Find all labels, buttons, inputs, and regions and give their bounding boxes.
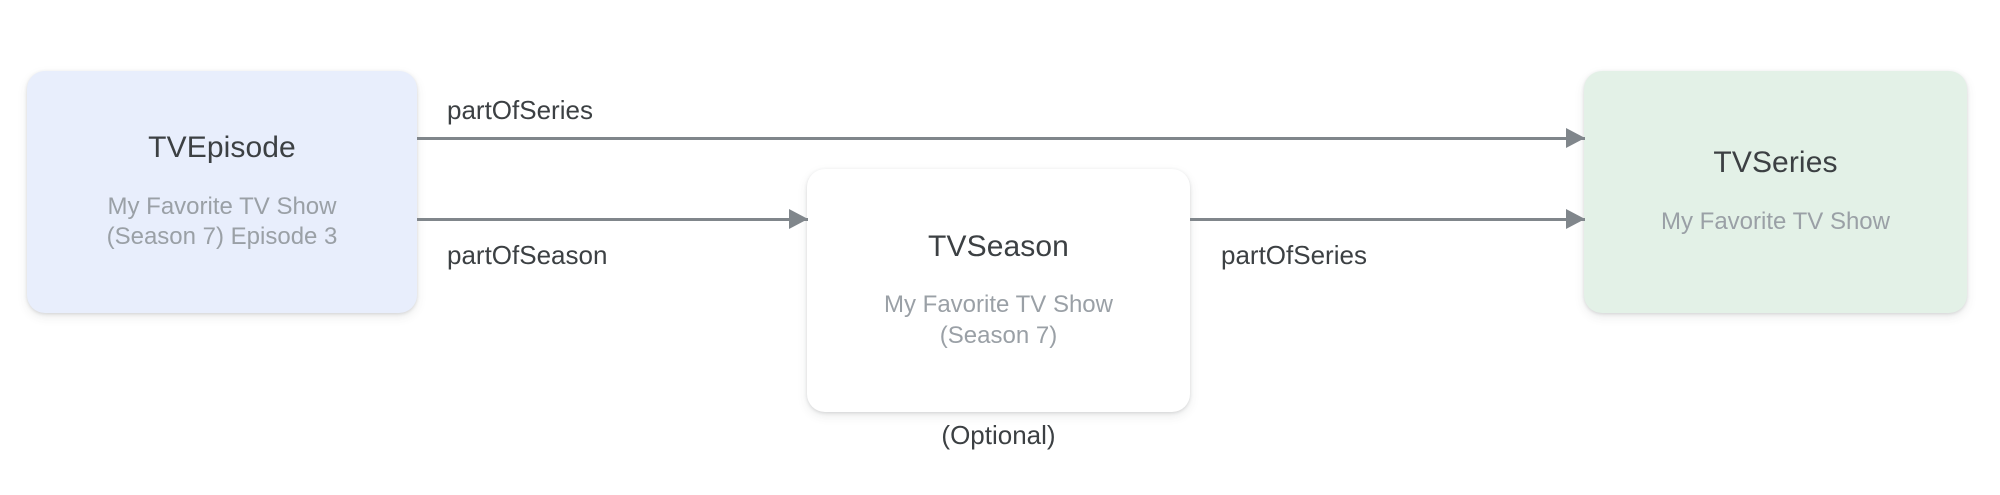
node-tvseason-title: TVSeason — [928, 230, 1069, 265]
node-tvseason-subtitle: My Favorite TV Show (Season 7) — [884, 290, 1113, 351]
edge-season-to-series-line — [1190, 218, 1585, 221]
caption-season-optional: (Optional) — [807, 422, 1190, 448]
node-tvseason[interactable]: TVSeason My Favorite TV Show (Season 7) — [807, 169, 1190, 412]
arrowhead-right-icon — [1566, 128, 1585, 148]
node-tvepisode[interactable]: TVEpisode My Favorite TV Show (Season 7)… — [27, 71, 417, 313]
edge-episode-to-season-line — [417, 218, 808, 221]
node-tvseries-subtitle: My Favorite TV Show — [1661, 207, 1890, 238]
arrowhead-right-icon — [1566, 209, 1585, 229]
edge-episode-to-series-line — [417, 137, 1585, 140]
edge-label-part-of-series-bottom: partOfSeries — [1221, 242, 1367, 268]
node-tvseries[interactable]: TVSeries My Favorite TV Show — [1584, 71, 1967, 313]
node-tvseries-title: TVSeries — [1713, 146, 1837, 181]
arrowhead-right-icon — [789, 209, 808, 229]
node-tvepisode-subtitle: My Favorite TV Show (Season 7) Episode 3 — [107, 192, 338, 253]
edge-label-part-of-series-top: partOfSeries — [447, 97, 593, 123]
node-tvepisode-title: TVEpisode — [148, 131, 296, 166]
edge-label-part-of-season: partOfSeason — [447, 242, 607, 268]
diagram-canvas: TVEpisode My Favorite TV Show (Season 7)… — [0, 0, 2000, 495]
